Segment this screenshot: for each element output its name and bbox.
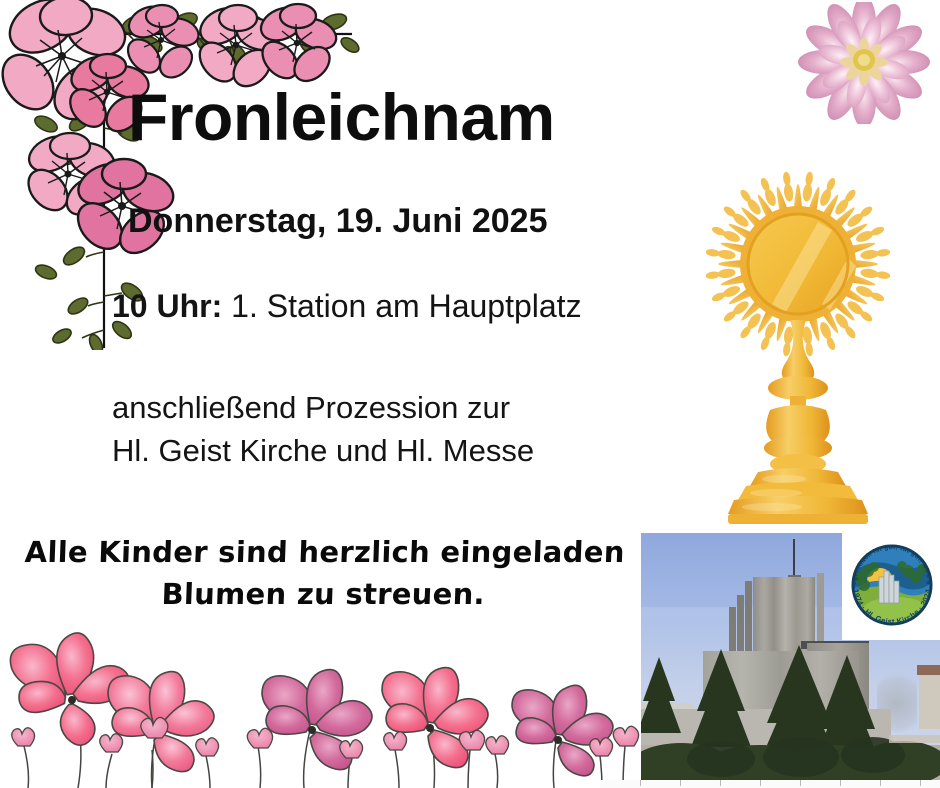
poster-canvas: Fronleichnam Donnerstag, 19. Juni 2025 1…	[0, 0, 940, 788]
first-station-line: 10 Uhr: 1. Station am Hauptplatz	[112, 288, 582, 325]
church-logo-icon: Siegersbach ist gut, tut gut, wird gut 1…	[844, 533, 940, 637]
children-invitation: Alle Kinder sind herzlich eingeladen Blu…	[0, 531, 649, 615]
watercolor-flowers-icon	[0, 628, 648, 788]
dahlia-flower-icon	[795, 2, 935, 124]
procession-line-2: Hl. Geist Kirche und Hl. Messe	[112, 433, 534, 468]
station-text: 1. Station am Hauptplatz	[222, 288, 581, 324]
time-label: 10 Uhr:	[112, 288, 222, 324]
page-title: Fronleichnam	[128, 84, 555, 150]
bottom-ruler-strip	[600, 780, 940, 788]
procession-line-1: anschließend Prozession zur	[112, 390, 510, 425]
procession-block: anschließend Prozession zur Hl. Geist Ki…	[112, 386, 534, 473]
event-date: Donnerstag, 19. Juni 2025	[128, 203, 548, 240]
monstrance-icon	[672, 152, 940, 530]
invitation-line-2: Blumen zu streuen.	[0, 573, 648, 615]
invitation-line-1: Alle Kinder sind herzlich eingeladen	[24, 535, 625, 569]
